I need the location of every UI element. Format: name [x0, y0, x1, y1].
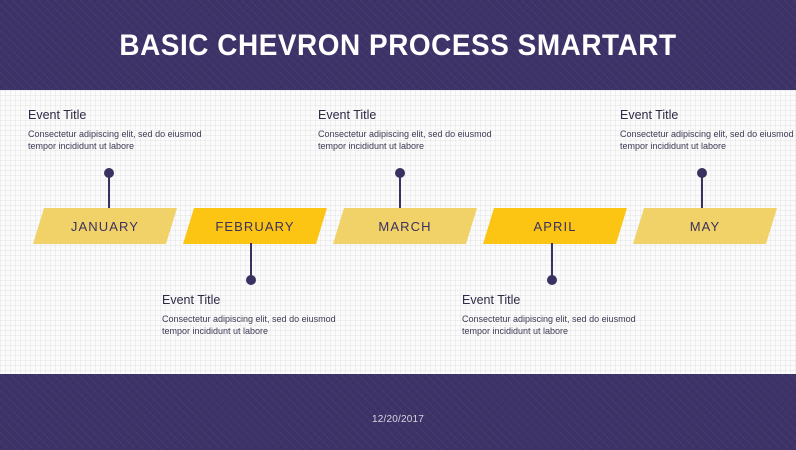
connector-2: [245, 243, 257, 285]
connector-dot-4: [547, 275, 557, 285]
event-block-3: Event Title Consectetur adipiscing elit,…: [318, 108, 496, 152]
event-description-3: Consectetur adipiscing elit, sed do eius…: [318, 128, 496, 152]
footer-date: 12/20/2017: [0, 414, 796, 425]
chevron-label-january: JANUARY: [71, 219, 139, 234]
event-block-4: Event Title Consectetur adipiscing elit,…: [462, 293, 640, 337]
connector-stem-5: [701, 176, 703, 210]
event-title-2: Event Title: [162, 293, 340, 308]
timeline-chevron-band: JANUARY FEBRUARY MARCH APRIL MAY: [0, 208, 796, 244]
event-title-5: Event Title: [620, 108, 796, 123]
connector-dot-2: [246, 275, 256, 285]
chevron-label-february: FEBRUARY: [215, 219, 294, 234]
event-block-1: Event Title Consectetur adipiscing elit,…: [28, 108, 206, 152]
event-description-2: Consectetur adipiscing elit, sed do eius…: [162, 313, 340, 337]
chevron-step-january[interactable]: JANUARY: [33, 208, 177, 244]
connector-stem-2: [250, 243, 252, 277]
slide-header: BASIC CHEVRON PROCESS SMARTART: [0, 0, 796, 90]
connector-4: [546, 243, 558, 285]
event-block-2: Event Title Consectetur adipiscing elit,…: [162, 293, 340, 337]
chevron-step-may[interactable]: MAY: [633, 208, 777, 244]
connector-stem-4: [551, 243, 553, 277]
connector-3: [394, 168, 406, 210]
chevron-label-may: MAY: [690, 219, 721, 234]
connector-1: [103, 168, 115, 210]
slide-footer: 12/20/2017: [0, 374, 796, 450]
chevron-step-march[interactable]: MARCH: [333, 208, 477, 244]
event-block-5: Event Title Consectetur adipiscing elit,…: [620, 108, 796, 152]
chevron-step-april[interactable]: APRIL: [483, 208, 627, 244]
connector-5: [696, 168, 708, 210]
event-description-1: Consectetur adipiscing elit, sed do eius…: [28, 128, 206, 152]
event-title-1: Event Title: [28, 108, 206, 123]
connector-stem-3: [399, 176, 401, 210]
slide-canvas: BASIC CHEVRON PROCESS SMARTART Event Tit…: [0, 0, 796, 450]
event-title-4: Event Title: [462, 293, 640, 308]
chevron-label-march: MARCH: [378, 219, 431, 234]
event-description-4: Consectetur adipiscing elit, sed do eius…: [462, 313, 640, 337]
connector-stem-1: [108, 176, 110, 210]
page-title: BASIC CHEVRON PROCESS SMARTART: [28, 29, 768, 63]
event-description-5: Consectetur adipiscing elit, sed do eius…: [620, 128, 796, 152]
event-title-3: Event Title: [318, 108, 496, 123]
chevron-step-february[interactable]: FEBRUARY: [183, 208, 327, 244]
chevron-label-april: APRIL: [533, 219, 576, 234]
